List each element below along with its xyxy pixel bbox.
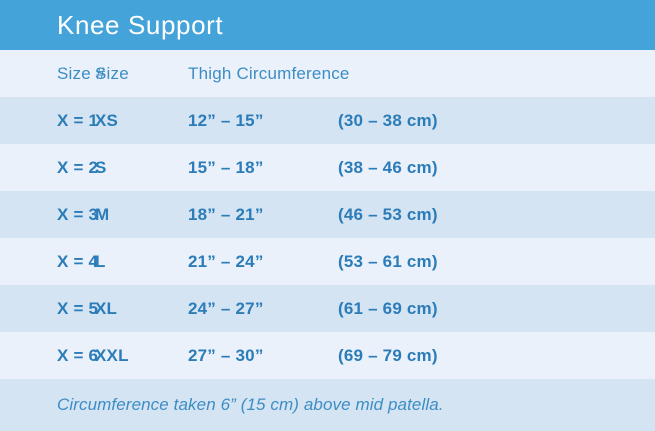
- chart-footnote-text: Circumference taken 6” (15 cm) above mid…: [57, 395, 444, 415]
- cell-size: XL: [95, 285, 188, 332]
- knee-support-size-chart: Knee Support Size # Size Thigh Circumfer…: [0, 0, 655, 431]
- cell-circumference-cm: (30 – 38 cm): [338, 97, 655, 144]
- cell-size-number: X = 2: [0, 144, 95, 191]
- column-header-thigh-circumference-cm: [338, 50, 655, 97]
- cell-size: S: [95, 144, 188, 191]
- cell-size: M: [95, 191, 188, 238]
- cell-circumference-cm: (53 – 61 cm): [338, 238, 655, 285]
- cell-circumference-in: 15” – 18”: [188, 144, 338, 191]
- table-row: X = 6 XXL 27” – 30” (69 – 79 cm): [0, 332, 655, 379]
- cell-size-number: X = 6: [0, 332, 95, 379]
- size-table: Size # Size Thigh Circumference X = 1 XS…: [0, 50, 655, 379]
- column-header-size: Size: [95, 50, 188, 97]
- cell-size: XXL: [95, 332, 188, 379]
- cell-size-number: X = 3: [0, 191, 95, 238]
- table-row: X = 2 S 15” – 18” (38 – 46 cm): [0, 144, 655, 191]
- cell-circumference-cm: (69 – 79 cm): [338, 332, 655, 379]
- column-header-size-number: Size #: [0, 50, 95, 97]
- table-head: Size # Size Thigh Circumference: [0, 50, 655, 97]
- chart-header-band: Knee Support: [0, 0, 655, 50]
- cell-circumference-in: 21” – 24”: [188, 238, 338, 285]
- table-row: X = 1 XS 12” – 15” (30 – 38 cm): [0, 97, 655, 144]
- table-body: X = 1 XS 12” – 15” (30 – 38 cm) X = 2 S …: [0, 97, 655, 379]
- cell-circumference-in: 12” – 15”: [188, 97, 338, 144]
- cell-size: XS: [95, 97, 188, 144]
- cell-circumference-in: 24” – 27”: [188, 285, 338, 332]
- page-title: Knee Support: [57, 12, 223, 38]
- cell-circumference-in: 27” – 30”: [188, 332, 338, 379]
- table-row: X = 4 L 21” – 24” (53 – 61 cm): [0, 238, 655, 285]
- cell-size: L: [95, 238, 188, 285]
- chart-footnote-band: Circumference taken 6” (15 cm) above mid…: [0, 379, 655, 431]
- cell-circumference-cm: (46 – 53 cm): [338, 191, 655, 238]
- table-row: X = 5 XL 24” – 27” (61 – 69 cm): [0, 285, 655, 332]
- cell-circumference-in: 18” – 21”: [188, 191, 338, 238]
- column-header-thigh-circumference: Thigh Circumference: [188, 50, 338, 97]
- cell-size-number: X = 5: [0, 285, 95, 332]
- cell-circumference-cm: (61 – 69 cm): [338, 285, 655, 332]
- cell-size-number: X = 1: [0, 97, 95, 144]
- cell-circumference-cm: (38 – 46 cm): [338, 144, 655, 191]
- table-row: X = 3 M 18” – 21” (46 – 53 cm): [0, 191, 655, 238]
- cell-size-number: X = 4: [0, 238, 95, 285]
- table-header-row: Size # Size Thigh Circumference: [0, 50, 655, 97]
